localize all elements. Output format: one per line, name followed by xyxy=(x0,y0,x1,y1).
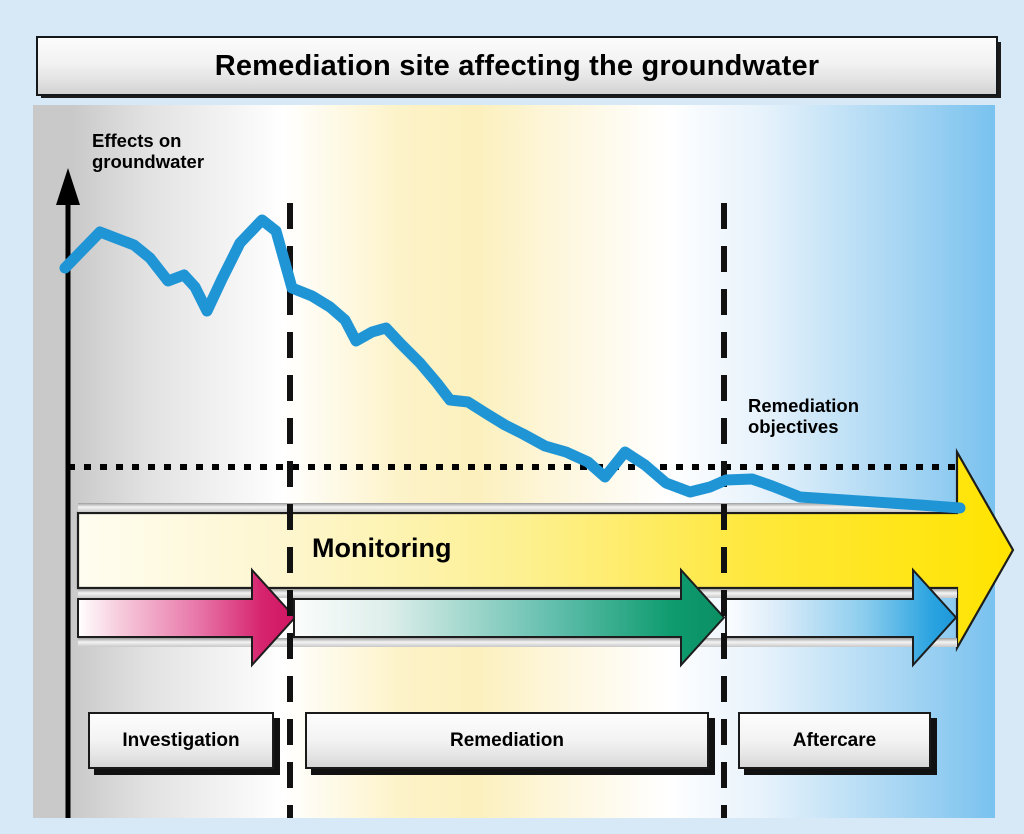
monitoring-label: Monitoring xyxy=(312,533,451,563)
phase-box-label: Remediation xyxy=(450,730,564,752)
monitoring-label-text: Monitoring xyxy=(312,533,451,563)
phase-box-label: Aftercare xyxy=(793,730,876,752)
phase-box-face: Investigation xyxy=(88,712,274,769)
remediation-objectives-label-text: Remediation objectives xyxy=(748,395,859,437)
diagram-canvas xyxy=(0,0,1024,834)
remediation-objectives-label: Remediation objectives xyxy=(748,396,859,437)
phase-box-aftercare[interactable]: Aftercare xyxy=(738,712,931,769)
phase-box-investigation[interactable]: Investigation xyxy=(88,712,274,769)
phase-box-face: Remediation xyxy=(305,712,709,769)
y-axis-label: Effects on groundwater xyxy=(92,131,204,172)
y-axis-label-text: Effects on groundwater xyxy=(92,130,204,172)
phase-box-remediation[interactable]: Remediation xyxy=(305,712,709,769)
phase-box-label: Investigation xyxy=(122,730,239,752)
phase-box-face: Aftercare xyxy=(738,712,931,769)
